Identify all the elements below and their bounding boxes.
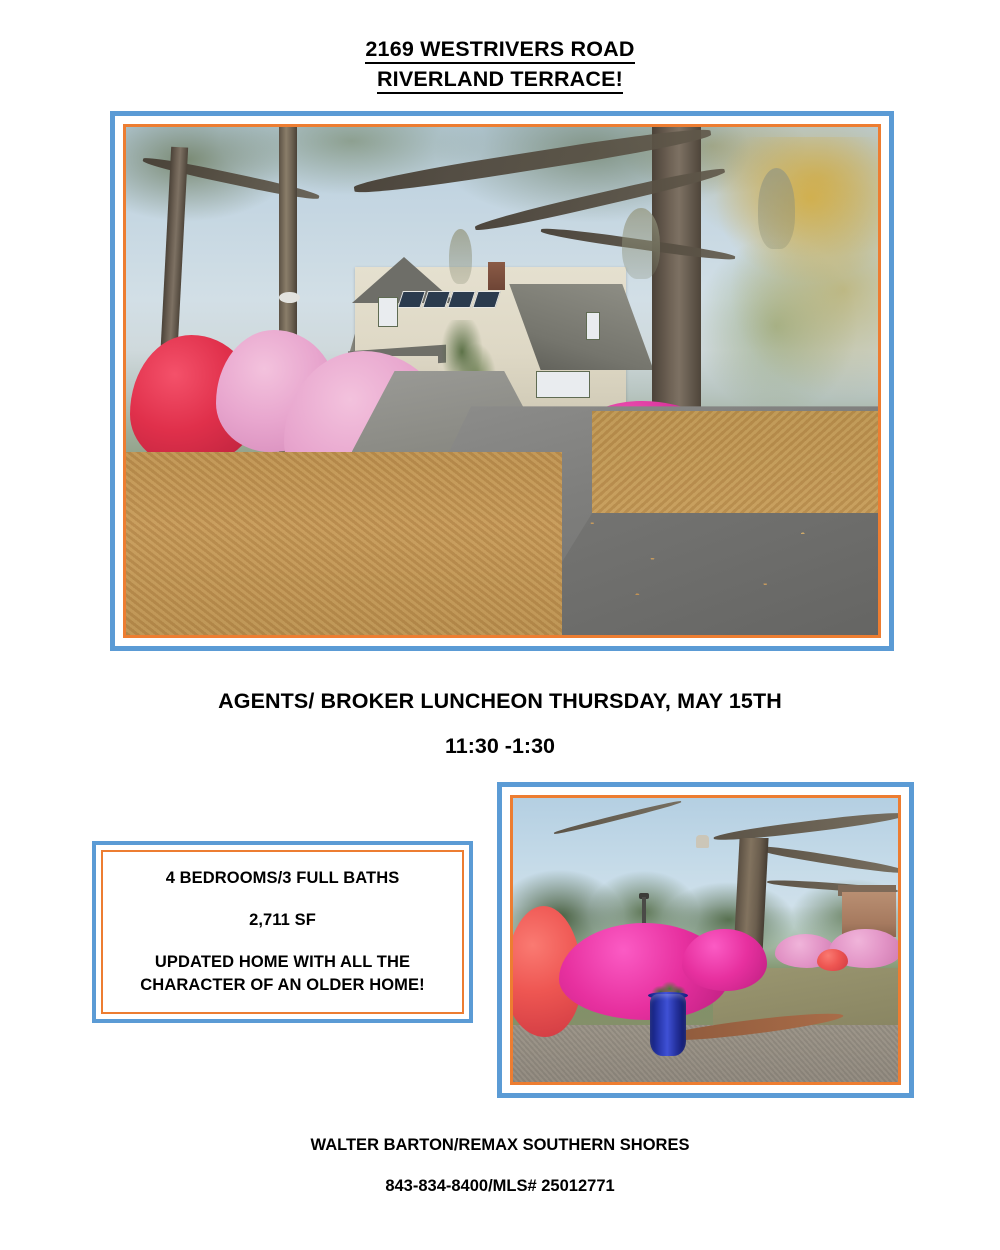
agent-phone-mls: 843-834-8400/MLS# 25012771 xyxy=(0,1174,1000,1198)
garden-photo xyxy=(513,798,898,1082)
main-property-photo xyxy=(126,127,878,635)
birdhouse xyxy=(696,835,709,848)
blue-ceramic-planter xyxy=(650,994,687,1056)
feature-square-feet: 2,711 SF xyxy=(249,909,316,932)
title-line-address: 2169 WESTRIVERS ROAD xyxy=(0,34,1000,64)
garden-photo-inner-border xyxy=(510,795,901,1085)
azalea-coral-right xyxy=(817,949,848,972)
page-title: 2169 WESTRIVERS ROAD RIVERLAND TERRACE! xyxy=(0,34,1000,94)
event-title: AGENTS/ BROKER LUNCHEON THURSDAY, MAY 15… xyxy=(0,686,1000,717)
scattered-leaves xyxy=(126,127,878,635)
feature-description-line-1: UPDATED HOME WITH ALL THE xyxy=(155,951,410,974)
garden-photo-frame xyxy=(497,782,914,1098)
agent-contact-footer: WALTER BARTON/REMAX SOUTHERN SHORES 843-… xyxy=(0,1133,1000,1198)
event-time: 11:30 -1:30 xyxy=(0,731,1000,762)
title-line-neighborhood: RIVERLAND TERRACE! xyxy=(0,64,1000,94)
feature-beds-baths: 4 BEDROOMS/3 FULL BATHS xyxy=(166,867,400,890)
property-features-box: 4 BEDROOMS/3 FULL BATHS 2,711 SF UPDATED… xyxy=(92,841,473,1023)
main-property-photo-frame xyxy=(110,111,894,651)
property-features-inner-border: 4 BEDROOMS/3 FULL BATHS 2,711 SF UPDATED… xyxy=(101,850,464,1014)
event-details: AGENTS/ BROKER LUNCHEON THURSDAY, MAY 15… xyxy=(0,686,1000,762)
feature-description-line-2: CHARACTER OF AN OLDER HOME! xyxy=(140,974,424,997)
azalea-magenta-right xyxy=(682,929,767,991)
agent-brokerage-name: WALTER BARTON/REMAX SOUTHERN SHORES xyxy=(0,1133,1000,1157)
main-property-photo-inner-border xyxy=(123,124,881,638)
